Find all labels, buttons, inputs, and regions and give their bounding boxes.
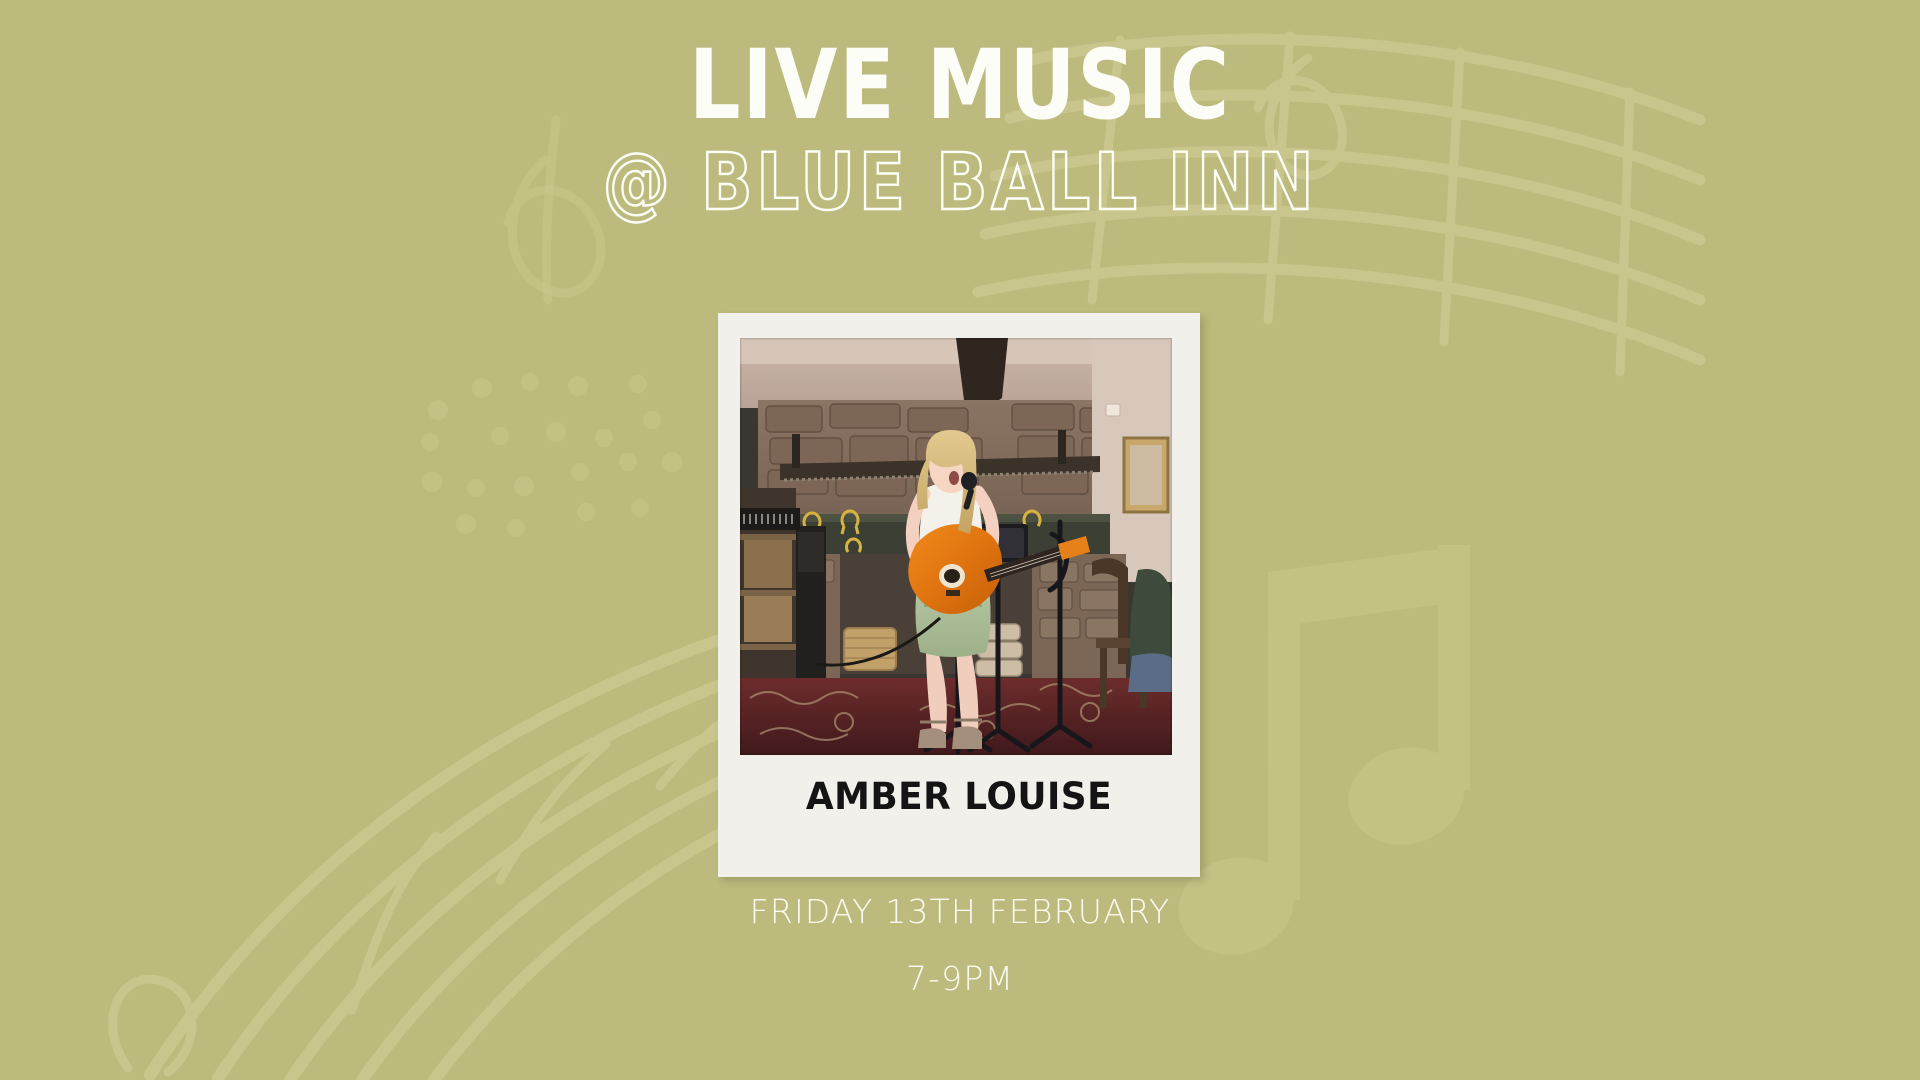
dot-cluster-icon	[421, 373, 682, 537]
headline-live-music: LIVE MUSIC	[58, 38, 1863, 132]
performer-photo	[740, 338, 1172, 755]
headline: LIVE MUSIC @ BLUE BALL INN	[0, 38, 1920, 222]
event-date: FRIDAY 13TH FEBRUARY	[0, 895, 1920, 928]
photo-illustration	[740, 338, 1172, 755]
event-time: 7-9PM	[0, 962, 1920, 995]
polaroid-card: AMBER LOUISE	[718, 313, 1200, 877]
performer-name: AMBER LOUISE	[725, 775, 1193, 818]
event-poster: LIVE MUSIC @ BLUE BALL INN	[0, 0, 1920, 1080]
headline-venue: @ BLUE BALL INN	[38, 144, 1881, 222]
event-details: FRIDAY 13TH FEBRUARY 7-9PM	[0, 895, 1920, 995]
